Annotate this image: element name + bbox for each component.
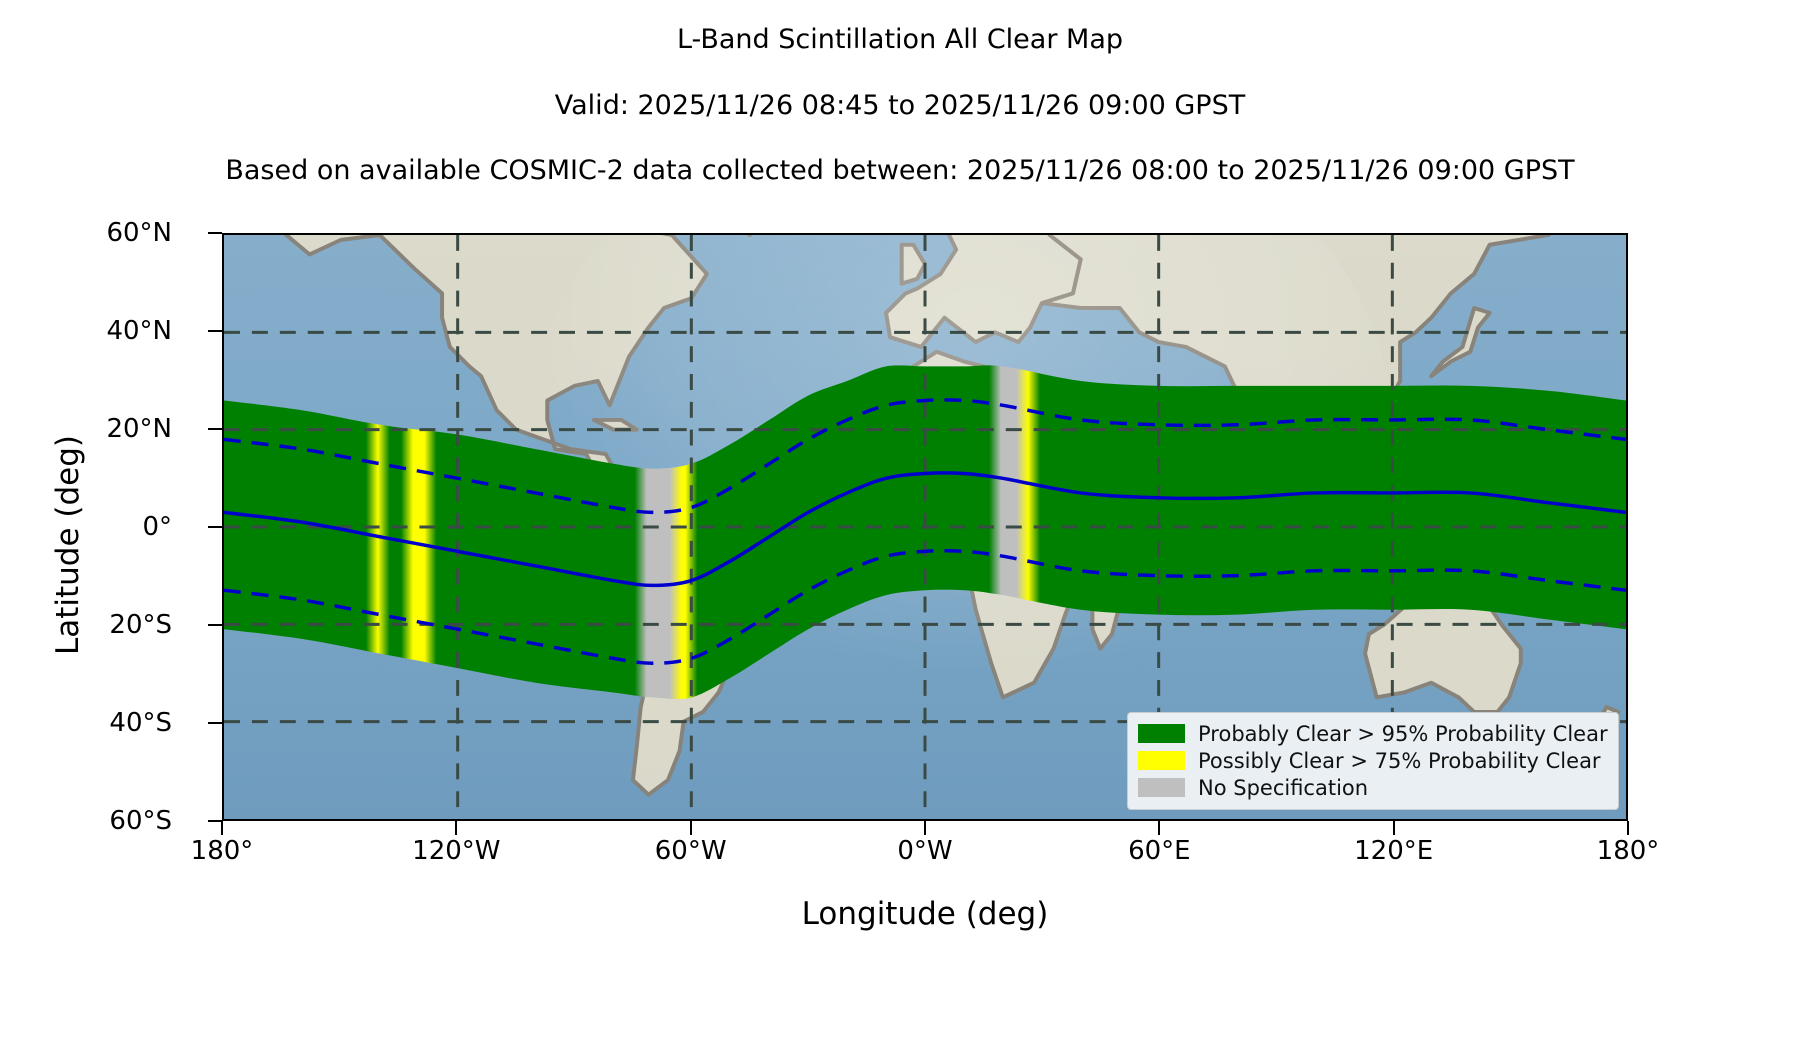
y-tick-label: 40°N [0, 316, 172, 346]
map-legend: Probably Clear > 95% Probability ClearPo… [1127, 712, 1619, 810]
y-tick-label: 60°S [0, 806, 172, 836]
x-tick-label: 180° [122, 836, 322, 866]
x-tick-label: 0°W [825, 836, 1025, 866]
x-tick-mark [690, 821, 692, 835]
y-tick-mark [208, 722, 222, 724]
x-tick-label: 180° [1528, 836, 1728, 866]
x-tick-mark [1627, 821, 1629, 835]
legend-swatch-probably-clear [1138, 724, 1185, 743]
legend-item-possibly-clear: Possibly Clear > 75% Probability Clear [1138, 747, 1608, 774]
legend-label: Possibly Clear > 75% Probability Clear [1198, 749, 1601, 773]
y-tick-mark [208, 526, 222, 528]
x-tick-mark [221, 821, 223, 835]
legend-label: No Specification [1198, 776, 1368, 800]
y-tick-mark [208, 232, 222, 234]
x-tick-mark [455, 821, 457, 835]
y-tick-mark [208, 820, 222, 822]
y-tick-label: 20°N [0, 414, 172, 444]
y-tick-label: 40°S [0, 708, 172, 738]
y-tick-label: 0° [0, 512, 172, 542]
y-tick-label: 20°S [0, 610, 172, 640]
y-tick-mark [208, 624, 222, 626]
x-tick-mark [1158, 821, 1160, 835]
validity-subtitle: Valid: 2025/11/26 08:45 to 2025/11/26 09… [0, 90, 1800, 121]
legend-item-no-specification: No Specification [1138, 774, 1608, 801]
page-title: L-Band Scintillation All Clear Map [0, 24, 1800, 55]
y-tick-mark [208, 330, 222, 332]
legend-item-probably-clear: Probably Clear > 95% Probability Clear [1138, 720, 1608, 747]
legend-swatch-no-specification [1138, 778, 1185, 797]
data-source-subtitle: Based on available COSMIC-2 data collect… [0, 155, 1800, 186]
legend-label: Probably Clear > 95% Probability Clear [1198, 722, 1608, 746]
x-tick-mark [1393, 821, 1395, 835]
x-tick-label: 120°E [1294, 836, 1494, 866]
x-tick-label: 60°W [591, 836, 791, 866]
y-tick-label: 60°N [0, 218, 172, 248]
x-tick-label: 120°W [356, 836, 556, 866]
legend-swatch-possibly-clear [1138, 751, 1185, 770]
x-axis-label: Longitude (deg) [222, 896, 1628, 932]
x-tick-label: 60°E [1059, 836, 1259, 866]
x-tick-mark [924, 821, 926, 835]
scintillation-map-figure: L-Band Scintillation All Clear Map Valid… [0, 0, 1800, 1050]
y-tick-mark [208, 428, 222, 430]
